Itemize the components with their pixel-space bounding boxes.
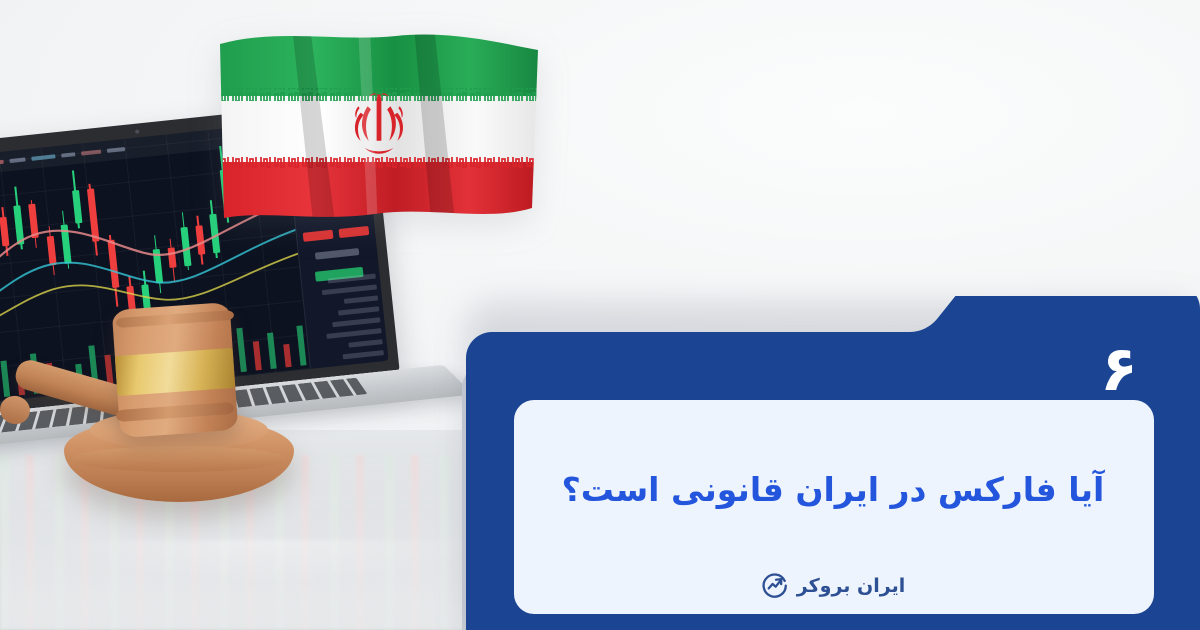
price-ladder-row bbox=[322, 284, 377, 295]
banner-stage: ۶ آیا فارکس در ایران قانونی است؟ ایران ب… bbox=[0, 0, 1200, 630]
page-title: آیا فارکس در ایران قانونی است؟ bbox=[466, 468, 1200, 513]
iran-flag bbox=[218, 26, 540, 231]
price-ladder-row bbox=[344, 295, 378, 304]
iran-flag-svg bbox=[218, 26, 540, 231]
gavel-brass-band bbox=[115, 348, 236, 396]
brand-logo[interactable]: ایران بروکر bbox=[466, 572, 1200, 599]
brand-name: ایران بروکر bbox=[797, 575, 905, 597]
price-ladder-row bbox=[326, 328, 381, 339]
price-ladder-row bbox=[332, 317, 380, 327]
trending-up-circle-icon bbox=[761, 572, 788, 599]
price-ladder-row bbox=[338, 306, 379, 315]
price-ladder-row bbox=[348, 339, 382, 348]
gavel-sound-block-lip bbox=[72, 446, 286, 472]
folder-number-badge: ۶ bbox=[1100, 338, 1138, 400]
folder-main: ۶ آیا فارکس در ایران قانونی است؟ ایران ب… bbox=[466, 296, 1200, 630]
price-ladder-row bbox=[343, 350, 384, 359]
sell-button bbox=[303, 230, 334, 242]
volume-bar bbox=[0, 361, 10, 397]
judge-gavel bbox=[20, 300, 320, 500]
spread-indicator bbox=[315, 248, 359, 260]
webcam-icon bbox=[135, 129, 139, 133]
folder-card: ۶ آیا فارکس در ایران قانونی است؟ ایران ب… bbox=[436, 262, 1200, 630]
